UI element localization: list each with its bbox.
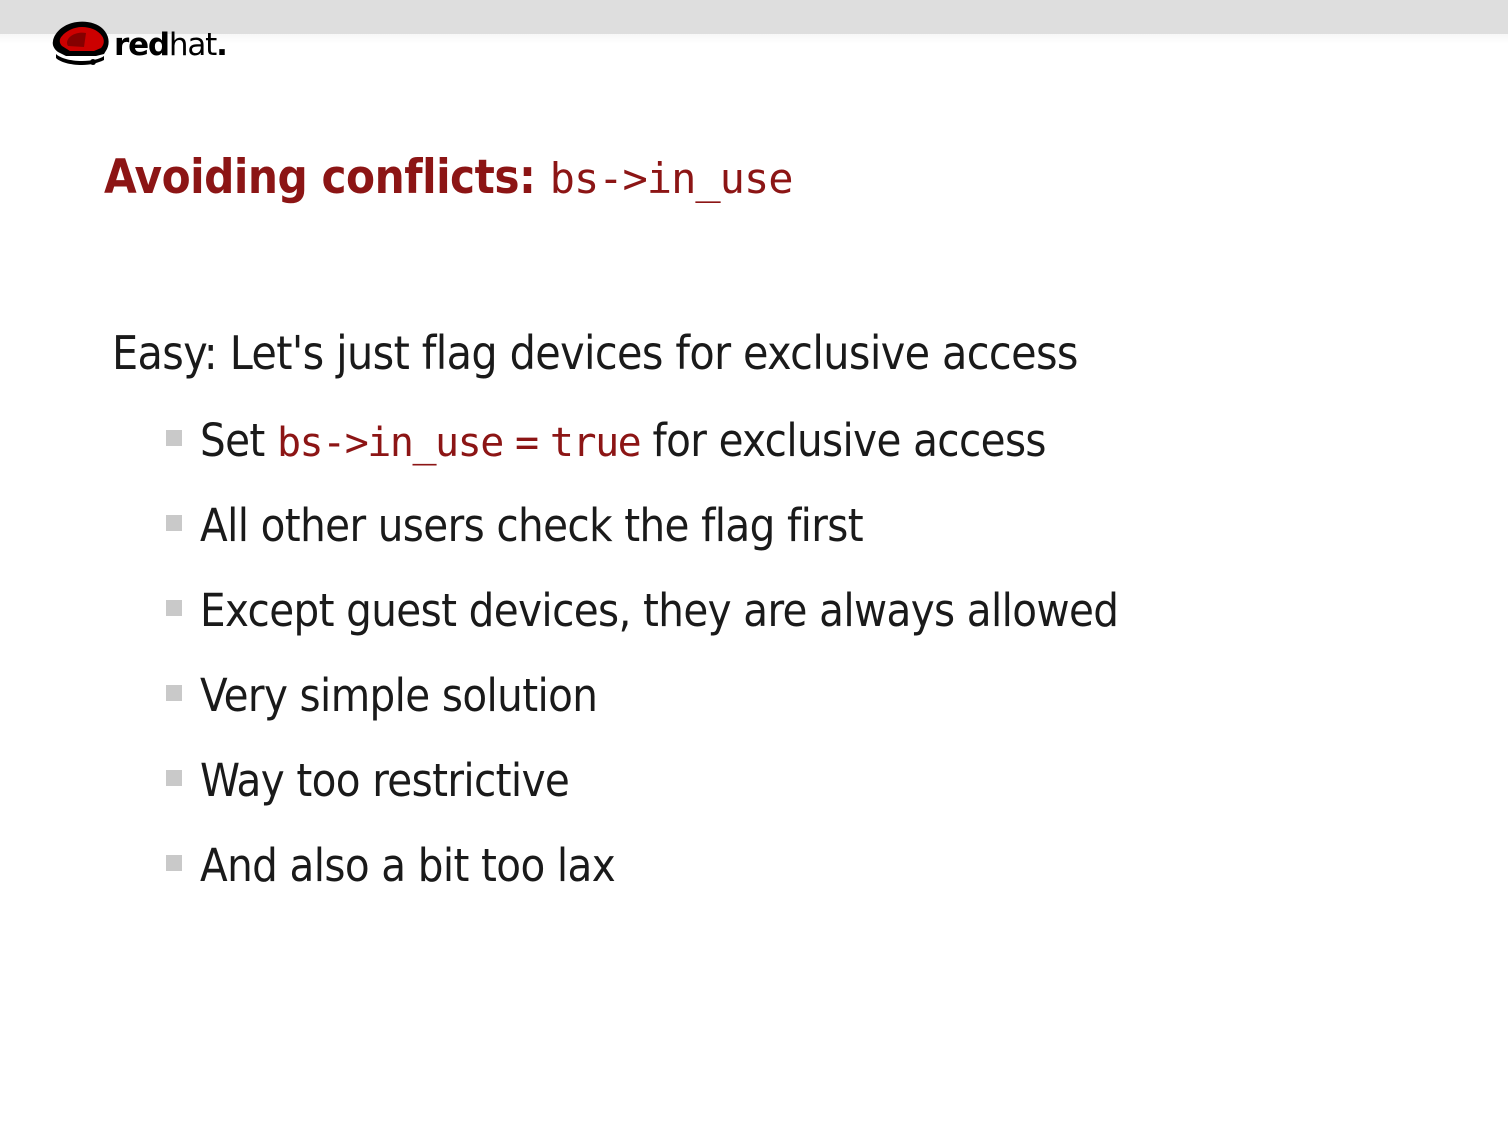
wordmark-dot: . xyxy=(216,27,227,63)
list-item: And also a bit too lax xyxy=(112,843,1442,928)
inline-text: All other users check the flag first xyxy=(200,499,863,552)
square-bullet-icon xyxy=(166,685,182,701)
inline-code: bs->in_use xyxy=(277,420,503,466)
title-prefix: Avoiding conflicts: xyxy=(104,150,535,205)
list-item: Except guest devices, they are always al… xyxy=(112,588,1442,673)
list-item: Set bs->in_use = true for exclusive acce… xyxy=(112,418,1442,503)
list-item-label: And also a bit too lax xyxy=(200,843,615,888)
red-hat-wordmark: redhat. xyxy=(114,30,227,61)
inline-text: for exclusive access xyxy=(640,414,1046,467)
wordmark-hat: hat xyxy=(169,27,216,63)
square-bullet-icon xyxy=(166,430,182,446)
title-code: bs->in_use xyxy=(550,154,793,203)
inline-text: Set xyxy=(200,414,277,467)
list-item-label: Except guest devices, they are always al… xyxy=(200,588,1118,633)
inline-text: Except guest devices, they are always al… xyxy=(200,584,1118,637)
square-bullet-icon xyxy=(166,600,182,616)
list-item-label: Way too restrictive xyxy=(200,758,569,803)
inline-code: true xyxy=(550,420,640,466)
inline-text: And also a bit too lax xyxy=(200,839,615,892)
wordmark-red: red xyxy=(114,27,169,63)
slide-body: Easy: Let's just flag devices for exclus… xyxy=(112,330,1442,928)
red-hat-logo: redhat. xyxy=(46,14,227,68)
square-bullet-icon xyxy=(166,770,182,786)
inline-text xyxy=(503,414,515,467)
list-item: All other users check the flag first xyxy=(112,503,1442,588)
inline-text: Way too restrictive xyxy=(200,754,569,807)
list-item-label: All other users check the flag first xyxy=(200,503,863,548)
bullet-list: Set bs->in_use = true for exclusive acce… xyxy=(112,418,1442,928)
red-hat-shadowman-icon xyxy=(46,16,118,66)
lead-statement: Easy: Let's just flag devices for exclus… xyxy=(112,330,1442,376)
list-item: Way too restrictive xyxy=(112,758,1442,843)
square-bullet-icon xyxy=(166,515,182,531)
page-title: Avoiding conflicts: bs->in_use xyxy=(104,153,793,202)
inline-text xyxy=(538,414,550,467)
inline-code: = xyxy=(515,420,538,466)
square-bullet-icon xyxy=(166,855,182,871)
list-item-label: Set bs->in_use = true for exclusive acce… xyxy=(200,418,1046,463)
inline-text: Very simple solution xyxy=(200,669,597,722)
list-item-label: Very simple solution xyxy=(200,673,597,718)
list-item: Very simple solution xyxy=(112,673,1442,758)
